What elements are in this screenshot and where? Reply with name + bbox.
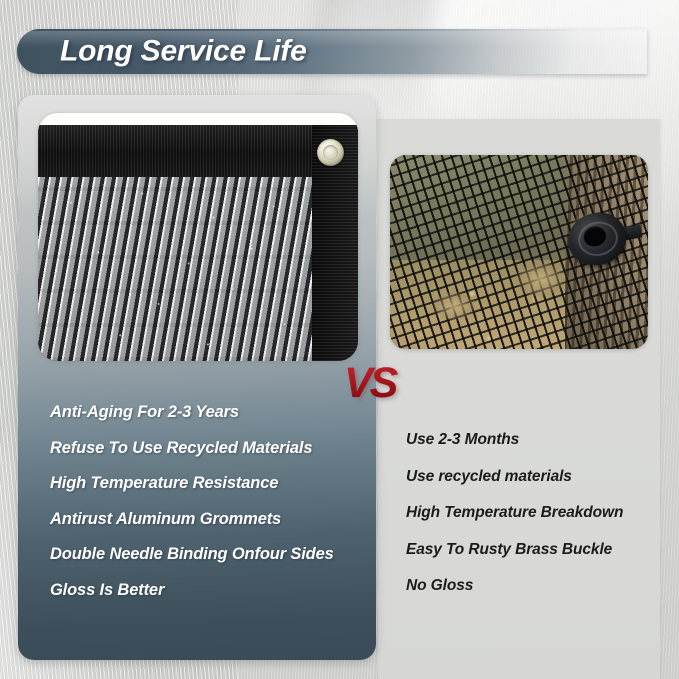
list-item: No Gloss [406,577,652,595]
list-item: Refuse To Use Recycled Materials [50,439,370,458]
list-item: Use recycled materials [406,468,652,486]
competitor-feature-list: Use 2-3 Months Use recycled materials Hi… [406,431,652,614]
product-photo-frame [38,113,358,361]
weave-sparkle-highlights [38,177,312,361]
list-item: Use 2-3 Months [406,431,652,449]
list-item: Antirust Aluminum Grommets [50,510,370,529]
binding-tape-top [38,125,358,177]
list-item: High Temperature Breakdown [406,504,652,522]
knit-weave-fabric [38,177,312,361]
vs-badge: VS [344,360,406,406]
aluminum-grommet-icon [317,139,344,166]
list-item: Anti-Aging For 2-3 Years [50,403,370,422]
photo-vignette [390,155,648,349]
list-item: Double Needle Binding Onfour Sides [50,545,370,564]
our-product-photo [38,125,358,361]
competitor-panel: Use 2-3 Months Use recycled materials Hi… [378,119,660,679]
page-title: Long Service Life [60,34,307,68]
our-product-feature-list: Anti-Aging For 2-3 Years Refuse To Use R… [50,403,370,616]
header-banner: Long Service Life [17,29,647,74]
competitor-product-photo [390,155,648,349]
list-item: Easy To Rusty Brass Buckle [406,541,652,559]
our-product-panel: Anti-Aging For 2-3 Years Refuse To Use R… [18,95,376,660]
list-item: Gloss Is Better [50,581,370,600]
list-item: High Temperature Resistance [50,474,370,493]
